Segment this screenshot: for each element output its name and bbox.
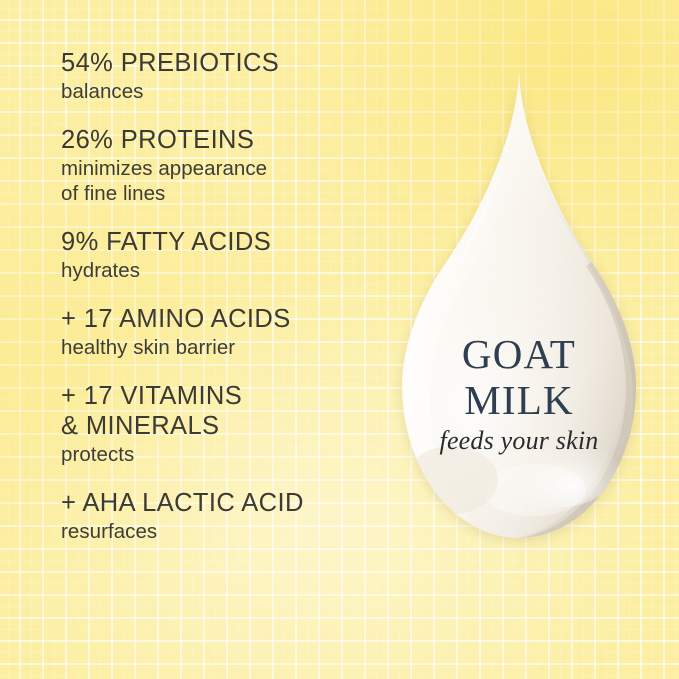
fact-subtitle: protects xyxy=(61,442,391,467)
fact-title: 9% FATTY ACIDS xyxy=(61,227,391,257)
milk-droplet-icon xyxy=(378,60,660,552)
fact-title: + 17 VITAMINS & MINERALS xyxy=(61,381,391,441)
fact-item: 26% PROTEINS minimizes appearance of fin… xyxy=(61,125,391,206)
fact-item: + 17 VITAMINS & MINERALS protects xyxy=(61,381,391,467)
fact-item: + 17 AMINO ACIDS healthy skin barrier xyxy=(61,304,391,360)
ingredient-fact-list: 54% PREBIOTICS balances 26% PROTEINS min… xyxy=(61,48,391,544)
fact-title: 26% PROTEINS xyxy=(61,125,391,155)
fact-title: + AHA LACTIC ACID xyxy=(61,488,391,518)
fact-title: + 17 AMINO ACIDS xyxy=(61,304,391,334)
fact-item: + AHA LACTIC ACID resurfaces xyxy=(61,488,391,544)
fact-subtitle: balances xyxy=(61,79,391,104)
fact-subtitle: healthy skin barrier xyxy=(61,335,391,360)
fact-subtitle: minimizes appearance of fine lines xyxy=(61,156,391,206)
fact-title: 54% PREBIOTICS xyxy=(61,48,391,78)
fact-subtitle: resurfaces xyxy=(61,519,391,544)
fact-subtitle: hydrates xyxy=(61,258,391,283)
infographic-canvas: 54% PREBIOTICS balances 26% PROTEINS min… xyxy=(0,0,679,679)
fact-item: 54% PREBIOTICS balances xyxy=(61,48,391,104)
milk-droplet: GOAT MILK feeds your skin xyxy=(378,60,660,552)
fact-item: 9% FATTY ACIDS hydrates xyxy=(61,227,391,283)
